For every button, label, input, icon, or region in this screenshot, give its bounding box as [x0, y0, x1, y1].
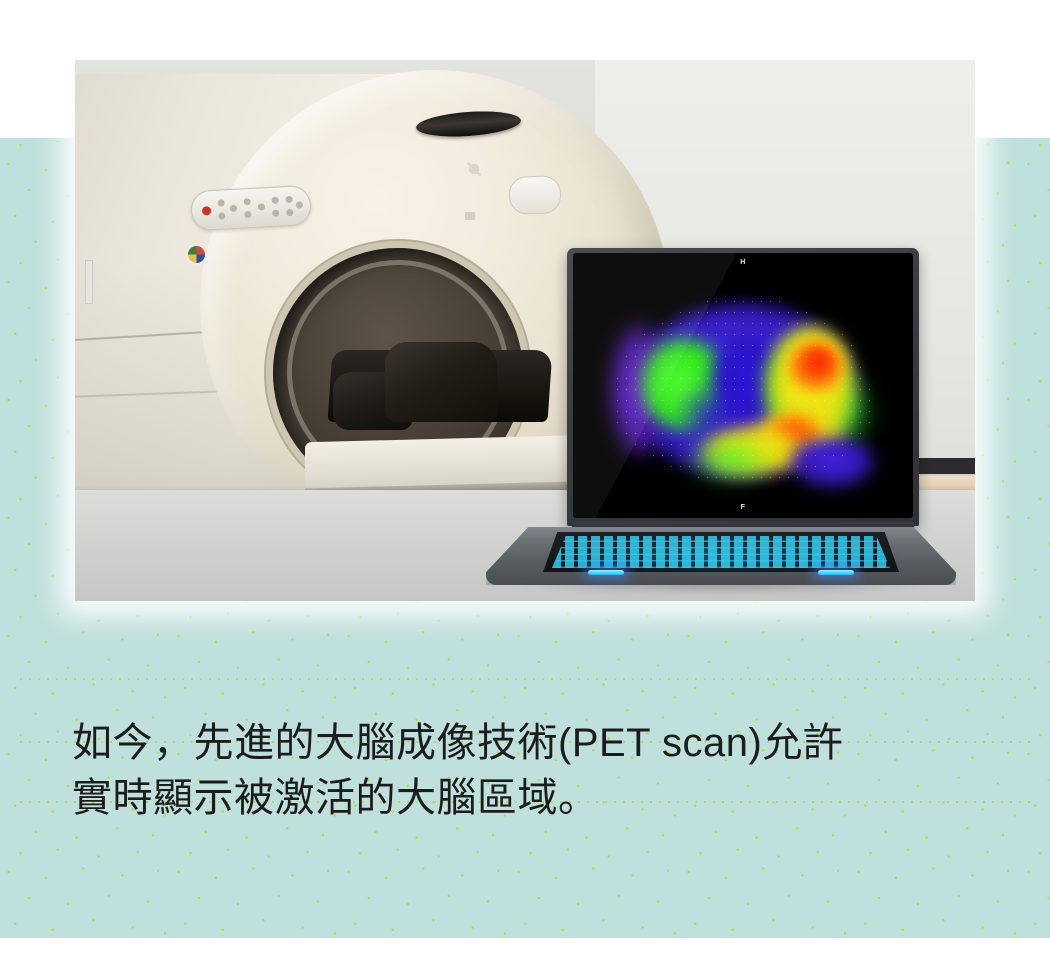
scanner-side-panel	[85, 260, 93, 304]
scanner-badge-icon	[188, 246, 205, 263]
scanner-logo-icon	[465, 160, 483, 178]
laptop-lid: H F	[567, 248, 919, 526]
scanner-control-panel[interactable]	[190, 185, 312, 231]
page-root: H F 如今，先進的大腦成像技術(PET scan)允許 實時顯示被激活的大腦區…	[0, 0, 1050, 958]
laptop-led-left	[588, 570, 624, 575]
scanner-marker	[465, 212, 475, 220]
dotted-guide-row	[20, 678, 1030, 680]
hero-photo: H F	[75, 60, 975, 601]
bore-headrest-right	[385, 342, 497, 422]
laptop-led-right	[818, 570, 854, 575]
caption-line-2: 實時顯示被激活的大腦區域。	[72, 771, 972, 826]
photo-content: H F	[75, 60, 975, 601]
laptop-screen: H F	[573, 253, 913, 518]
caption-text: 如今，先進的大腦成像技術(PET scan)允許 實時顯示被激活的大腦區域。	[72, 716, 972, 826]
laptop-base-shadow	[510, 582, 932, 594]
laptop-displaying-pet-scan[interactable]: H F	[486, 248, 956, 601]
caption-line-1: 如今，先進的大腦成像技術(PET scan)允許	[72, 716, 972, 771]
orientation-label-head: H	[573, 259, 913, 266]
pet-brain-sagittal-scan	[613, 296, 873, 486]
laptop-keyboard[interactable]	[552, 536, 890, 568]
orientation-label-feet: F	[573, 504, 913, 511]
scanner-control-panel-secondary[interactable]	[508, 175, 561, 215]
